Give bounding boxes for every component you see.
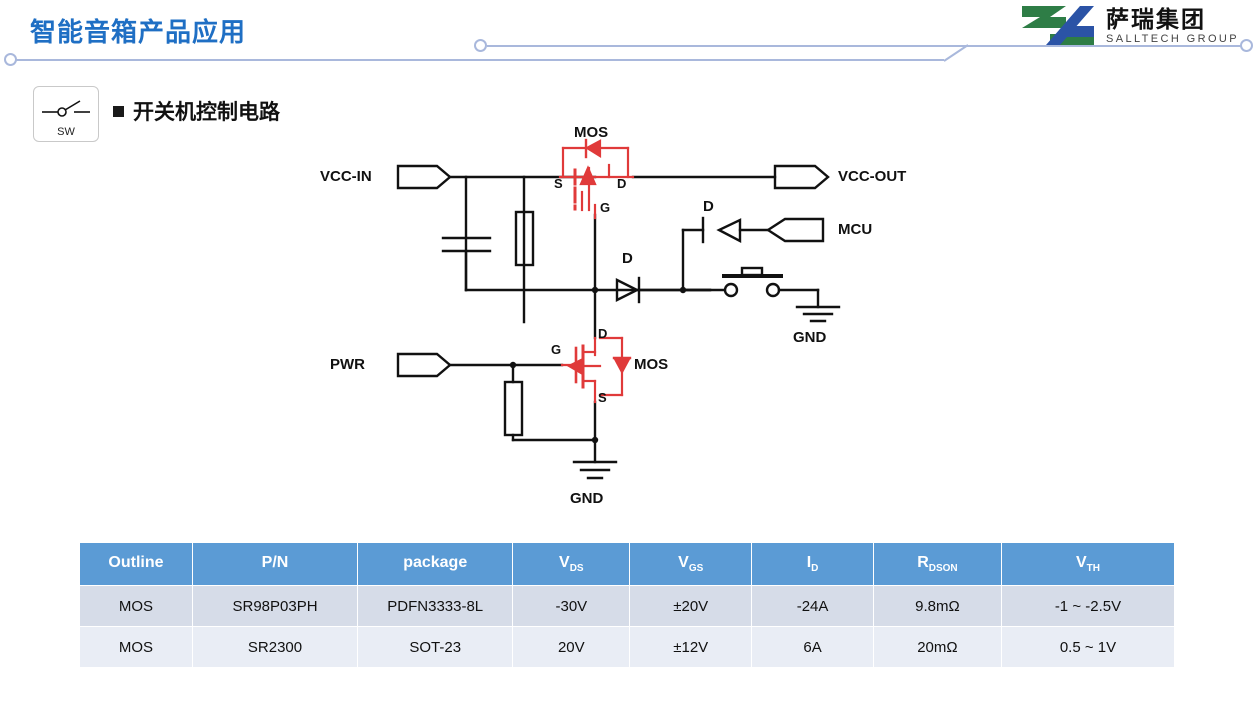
cell-outline: MOS: [80, 586, 193, 627]
col-outline: Outline: [80, 543, 193, 586]
circuit-schematic-svg: [0, 110, 1255, 530]
salltech-logo-mark: [1020, 4, 1098, 48]
pin-bottom-drain: D: [598, 326, 607, 341]
table-header-row: Outline P/N package VDS VGS ID RDSON VTH: [80, 543, 1175, 586]
pushbutton-cap: [742, 268, 762, 275]
header-deco-circle-mid: [474, 39, 487, 52]
vcc-out-connector: [775, 166, 828, 188]
vcc-in-connector: [398, 166, 450, 188]
mcu-connector: [768, 219, 823, 241]
col-rdson: RDSON: [873, 543, 1001, 586]
cell-id: 6A: [752, 627, 874, 668]
header-deco-circle-right: [1240, 39, 1253, 52]
label-gnd-bottom: GND: [570, 490, 603, 507]
pushbutton-contact-left: [725, 284, 737, 296]
label-vcc-in: VCC-IN: [320, 168, 372, 185]
table-row: MOS SR2300 SOT-23 20V ±12V 6A 20mΩ 0.5 ~…: [80, 627, 1175, 668]
label-mos-bottom: MOS: [634, 356, 668, 373]
cell-vgs: ±20V: [630, 586, 752, 627]
cell-outline: MOS: [80, 627, 193, 668]
spec-table: Outline P/N package VDS VGS ID RDSON VTH: [79, 542, 1175, 668]
circuit-diagram: VCC-IN VCC-OUT MCU PWR MOS MOS GND GND D…: [0, 110, 1255, 530]
header-deco-circle-left: [4, 53, 17, 66]
page-title: 智能音箱产品应用: [30, 12, 246, 49]
logo-english-name: SALLTECH GROUP: [1106, 34, 1239, 45]
col-id: ID: [752, 543, 874, 586]
header-deco-diagonal: [930, 40, 970, 66]
diode-mcu-triangle: [719, 220, 740, 241]
pin-top-drain: D: [617, 176, 626, 191]
header-deco-line-lower: [16, 59, 944, 61]
cell-pn: SR2300: [192, 627, 357, 668]
logo-chinese-name: 萨瑞集团: [1106, 8, 1239, 31]
pin-bottom-gate: G: [551, 342, 561, 357]
company-logo: 萨瑞集团 SALLTECH GROUP: [1020, 4, 1239, 48]
col-package: package: [358, 543, 513, 586]
col-vth: VTH: [1001, 543, 1174, 586]
cell-vth: -1 ~ -2.5V: [1001, 586, 1174, 627]
col-vds: VDS: [513, 543, 630, 586]
logo-text: 萨瑞集团 SALLTECH GROUP: [1106, 8, 1239, 45]
mosfet-bottom-body-diode: [615, 359, 629, 372]
label-diode-mid: D: [622, 250, 633, 267]
label-mos-top: MOS: [574, 124, 608, 141]
label-vcc-out: VCC-OUT: [838, 168, 906, 185]
pwr-connector: [398, 354, 450, 376]
label-diode-mcu: D: [703, 198, 714, 215]
label-pwr: PWR: [330, 356, 365, 373]
label-mcu: MCU: [838, 221, 872, 238]
mosfet-top-body-diode: [587, 141, 600, 156]
cell-package: SOT-23: [358, 627, 513, 668]
cell-vth: 0.5 ~ 1V: [1001, 627, 1174, 668]
page-header: 智能音箱产品应用 萨瑞集团 SALLTECH GROUP: [0, 0, 1255, 72]
cell-pn: SR98P03PH: [192, 586, 357, 627]
cell-rdson: 9.8mΩ: [873, 586, 1001, 627]
cell-rdson: 20mΩ: [873, 627, 1001, 668]
label-gnd-right: GND: [793, 329, 826, 346]
cell-vgs: ±12V: [630, 627, 752, 668]
table-row: MOS SR98P03PH PDFN3333-8L -30V ±20V -24A…: [80, 586, 1175, 627]
pin-top-source: S: [554, 176, 563, 191]
mosfet-bottom-symbol: [562, 338, 630, 402]
col-vgs: VGS: [630, 543, 752, 586]
cell-vds: -30V: [513, 586, 630, 627]
cell-id: -24A: [752, 586, 874, 627]
cell-vds: 20V: [513, 627, 630, 668]
pushbutton-contact-right: [767, 284, 779, 296]
pin-bottom-source: S: [598, 390, 607, 405]
cell-package: PDFN3333-8L: [358, 586, 513, 627]
col-pn: P/N: [192, 543, 357, 586]
resistor-lower: [505, 382, 522, 435]
pin-top-gate: G: [600, 200, 610, 215]
